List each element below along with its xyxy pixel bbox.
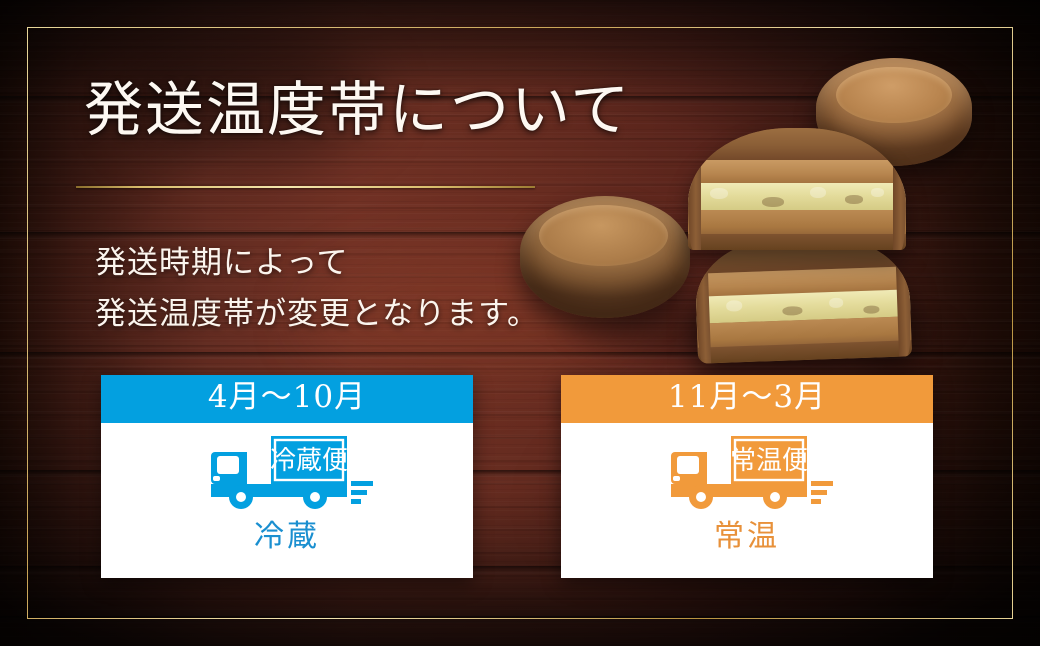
truck-badge-text-ambient: 常温便	[730, 446, 808, 476]
card-period-ambient: 11月～3月	[561, 375, 933, 423]
card-body-refrigerated: 冷蔵便 冷蔵	[101, 423, 473, 578]
shipping-temperature-banner: 発送温度帯について 発送時期によって 発送温度帯が変更となります。 4月～10月…	[0, 0, 1040, 646]
truck-badge-text-refrigerated: 冷蔵便	[270, 446, 348, 476]
card-body-ambient: 常温便 常温	[561, 423, 933, 578]
title-divider	[76, 186, 535, 188]
card-label-refrigerated: 冷蔵	[254, 522, 320, 552]
lead-line-1: 発送時期によって	[95, 238, 539, 289]
lead-paragraph: 発送時期によって 発送温度帯が変更となります。	[95, 238, 539, 341]
card-period-refrigerated: 4月～10月	[101, 375, 473, 423]
delivery-truck-icon: 常温便	[653, 434, 841, 514]
page-title: 発送温度帯について	[84, 78, 631, 142]
lead-line-2: 発送温度帯が変更となります。	[95, 289, 539, 340]
shipping-card-ambient[interactable]: 11月～3月 常温便 常温	[561, 375, 933, 578]
shipping-card-refrigerated[interactable]: 4月～10月 冷蔵便	[101, 375, 473, 578]
card-label-ambient: 常温	[714, 522, 780, 552]
delivery-truck-icon: 冷蔵便	[193, 434, 381, 514]
